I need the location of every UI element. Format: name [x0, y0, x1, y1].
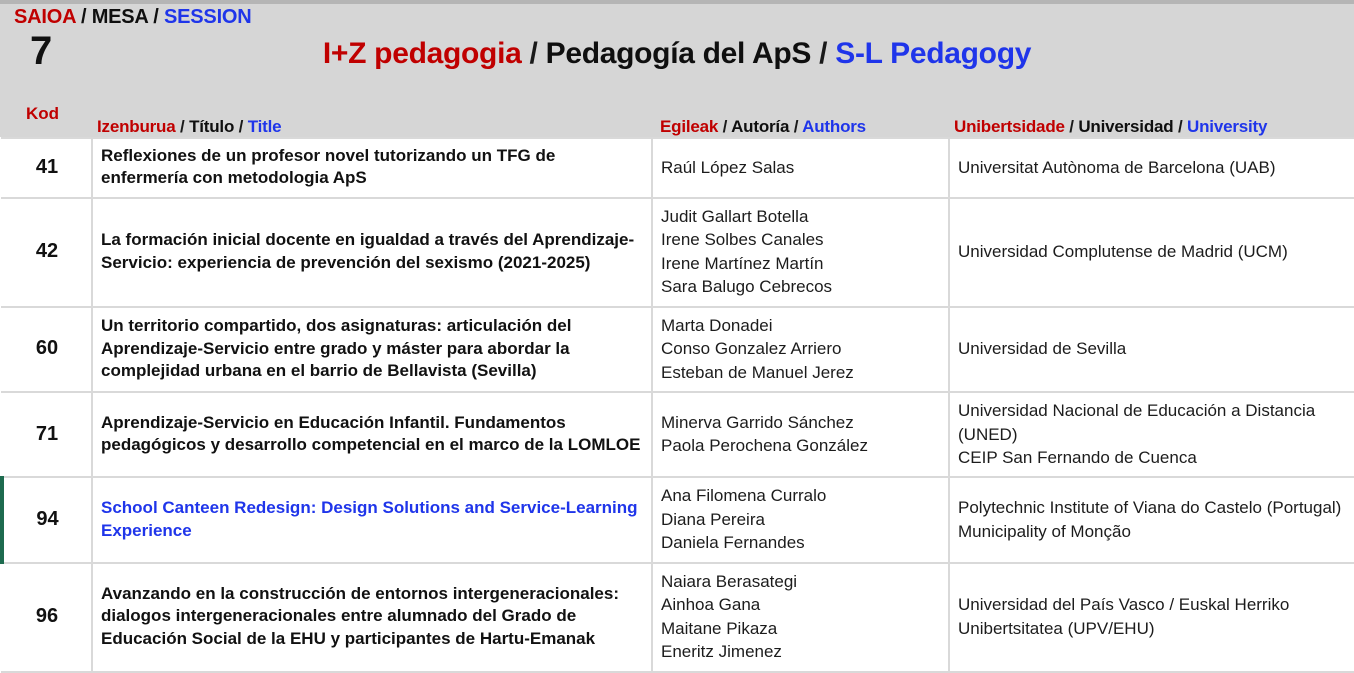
column-header-university: Unibertsidade / Universidad / University — [954, 117, 1267, 137]
cell-authors: Marta Donadei Conso Gonzalez Arriero Est… — [652, 307, 949, 392]
table-row[interactable]: 41Reflexiones de un profesor novel tutor… — [2, 138, 1354, 198]
column-header-title-spanish: Título — [189, 117, 234, 136]
breadcrumb: SAIOA / MESA / SESSION — [14, 6, 252, 29]
cell-title: Un territorio compartido, dos asignatura… — [92, 307, 652, 392]
column-header-university-spanish: Universidad — [1078, 117, 1173, 136]
cell-code: 96 — [2, 563, 92, 672]
column-header-title: Izenburua / Título / Title — [97, 117, 281, 137]
column-header-authors-separator-1: / — [718, 117, 731, 136]
session-contributions-table: 41Reflexiones de un profesor novel tutor… — [0, 137, 1354, 673]
cell-code: 42 — [2, 198, 92, 307]
cell-title: Avanzando en la construcción de entornos… — [92, 563, 652, 672]
column-header-authors-spanish: Autoría — [731, 117, 789, 136]
cell-university: Polytechnic Institute of Viana do Castel… — [949, 477, 1354, 562]
table-row[interactable]: 60Un territorio compartido, dos asignatu… — [2, 307, 1354, 392]
breadcrumb-separator-1: / — [76, 6, 92, 28]
session-title-basque: I+Z pedagogia — [323, 37, 522, 70]
session-title-spanish: Pedagogía del ApS — [546, 37, 812, 70]
column-header-university-separator-1: / — [1065, 117, 1079, 136]
cell-authors: Naiara Berasategi Ainhoa Gana Maitane Pi… — [652, 563, 949, 672]
cell-university: Universitat Autònoma de Barcelona (UAB) — [949, 138, 1354, 198]
table-row[interactable]: 96Avanzando en la construcción de entorn… — [2, 563, 1354, 672]
cell-university: Universidad Complutense de Madrid (UCM) — [949, 198, 1354, 307]
breadcrumb-separator-2: / — [148, 6, 164, 28]
column-header-kod: Kod — [26, 104, 59, 124]
session-header: SAIOA / MESA / SESSION 7 I+Z pedagogia /… — [0, 4, 1354, 137]
column-header-authors-english: Authors — [802, 117, 866, 136]
column-header-university-basque: Unibertsidade — [954, 117, 1065, 136]
cell-university: Universidad Nacional de Educación a Dist… — [949, 392, 1354, 477]
cell-code: 60 — [2, 307, 92, 392]
breadcrumb-spanish: MESA — [92, 6, 148, 28]
table-row[interactable]: 42La formación inicial docente en iguald… — [2, 198, 1354, 307]
session-title-separator-1: / — [522, 37, 546, 70]
column-header-title-separator-2: / — [234, 117, 248, 136]
column-header-university-separator-2: / — [1173, 117, 1187, 136]
column-header-authors: Egileak / Autoría / Authors — [660, 117, 866, 137]
table-row[interactable]: 94School Canteen Redesign: Design Soluti… — [2, 477, 1354, 562]
cell-title: La formación inicial docente en igualdad… — [92, 198, 652, 307]
cell-code: 71 — [2, 392, 92, 477]
column-header-authors-basque: Egileak — [660, 117, 718, 136]
cell-title: Reflexiones de un profesor novel tutoriz… — [92, 138, 652, 198]
cell-authors: Judit Gallart Botella Irene Solbes Canal… — [652, 198, 949, 307]
column-header-university-english: University — [1187, 117, 1267, 136]
cell-title: School Canteen Redesign: Design Solution… — [92, 477, 652, 562]
cell-authors: Raúl López Salas — [652, 138, 949, 198]
cell-authors: Minerva Garrido Sánchez Paola Perochena … — [652, 392, 949, 477]
table-body: 41Reflexiones de un profesor novel tutor… — [2, 138, 1354, 672]
cell-code: 41 — [2, 138, 92, 198]
session-program-page: SAIOA / MESA / SESSION 7 I+Z pedagogia /… — [0, 0, 1354, 658]
cell-university: Universidad del País Vasco / Euskal Herr… — [949, 563, 1354, 672]
column-header-title-basque: Izenburua — [97, 117, 176, 136]
cell-university: Universidad de Sevilla — [949, 307, 1354, 392]
cell-title: Aprendizaje-Servicio en Educación Infant… — [92, 392, 652, 477]
session-title: I+Z pedagogia / Pedagogía del ApS / S-L … — [0, 37, 1354, 71]
cell-code: 94 — [2, 477, 92, 562]
session-title-english: S-L Pedagogy — [835, 37, 1031, 70]
column-header-authors-separator-2: / — [789, 117, 802, 136]
column-header-title-english: Title — [248, 117, 282, 136]
column-header-title-separator-1: / — [176, 117, 190, 136]
cell-authors: Ana Filomena Curralo Diana Pereira Danie… — [652, 477, 949, 562]
table-row[interactable]: 71Aprendizaje-Servicio en Educación Infa… — [2, 392, 1354, 477]
session-title-separator-2: / — [811, 37, 835, 70]
breadcrumb-english: SESSION — [164, 6, 252, 28]
breadcrumb-basque: SAIOA — [14, 6, 76, 28]
